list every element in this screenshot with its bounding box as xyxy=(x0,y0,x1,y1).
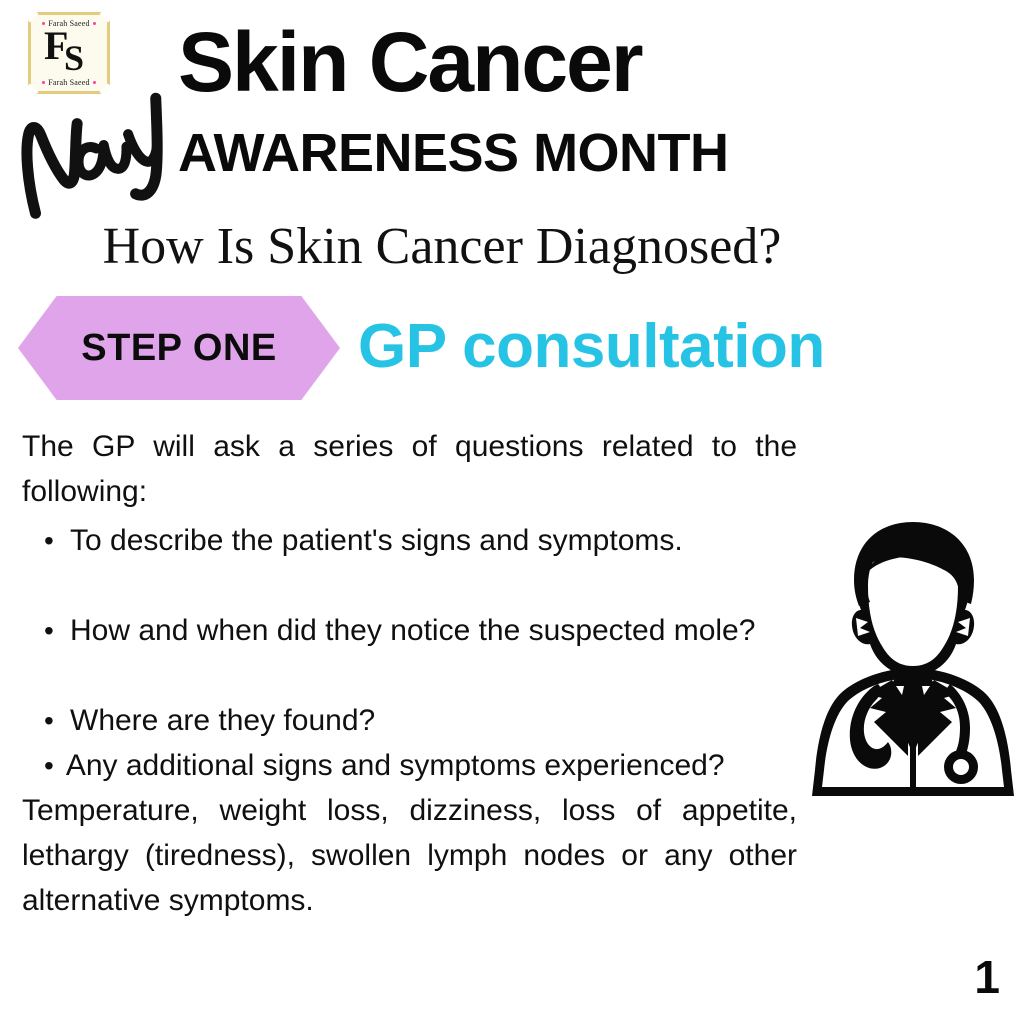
logo-dot-icon xyxy=(93,81,96,84)
logo-monogram-s: S xyxy=(64,40,84,76)
logo-dot-icon xyxy=(42,81,45,84)
body-content: The GP will ask a series of questions re… xyxy=(22,424,797,923)
logo-tagline-top: Farah Saeed xyxy=(28,19,110,28)
final-bullet-block: Any additional signs and symptoms experi… xyxy=(22,743,797,923)
logo-tagline-bottom: Farah Saeed xyxy=(28,78,110,87)
final-bullet-lead: Any additional signs and symptoms experi… xyxy=(22,743,797,788)
step-title: GP consultation xyxy=(358,302,825,392)
question-list: To describe the patient's signs and symp… xyxy=(22,518,797,743)
page-subtitle: AWARENESS MONTH xyxy=(178,124,729,182)
step-banner-row: STEP ONE GP consultation xyxy=(0,296,1024,400)
list-item: How and when did they notice the suspect… xyxy=(70,608,797,653)
list-item: To describe the patient's signs and symp… xyxy=(70,518,797,563)
page-title: Skin Cancer xyxy=(178,18,642,106)
list-item: Where are they found? xyxy=(70,698,797,743)
final-bullet-rest: Temperature, weight loss, dizziness, los… xyxy=(22,794,797,917)
logo-monogram: F S xyxy=(28,28,110,78)
logo-dot-icon xyxy=(93,22,96,25)
logo-tagline-bottom-text: Farah Saeed xyxy=(48,78,90,87)
section-question: How Is Skin Cancer Diagnosed? xyxy=(0,218,1024,276)
page-number: 1 xyxy=(974,954,1000,1000)
poster-canvas: Farah Saeed F S Farah Saeed Skin Cancer … xyxy=(0,0,1024,1024)
step-badge: STEP ONE xyxy=(18,296,340,400)
doctor-icon xyxy=(804,518,1022,804)
intro-paragraph: The GP will ask a series of questions re… xyxy=(22,424,797,514)
brand-logo: Farah Saeed F S Farah Saeed xyxy=(28,12,110,94)
step-badge-label: STEP ONE xyxy=(81,327,276,370)
